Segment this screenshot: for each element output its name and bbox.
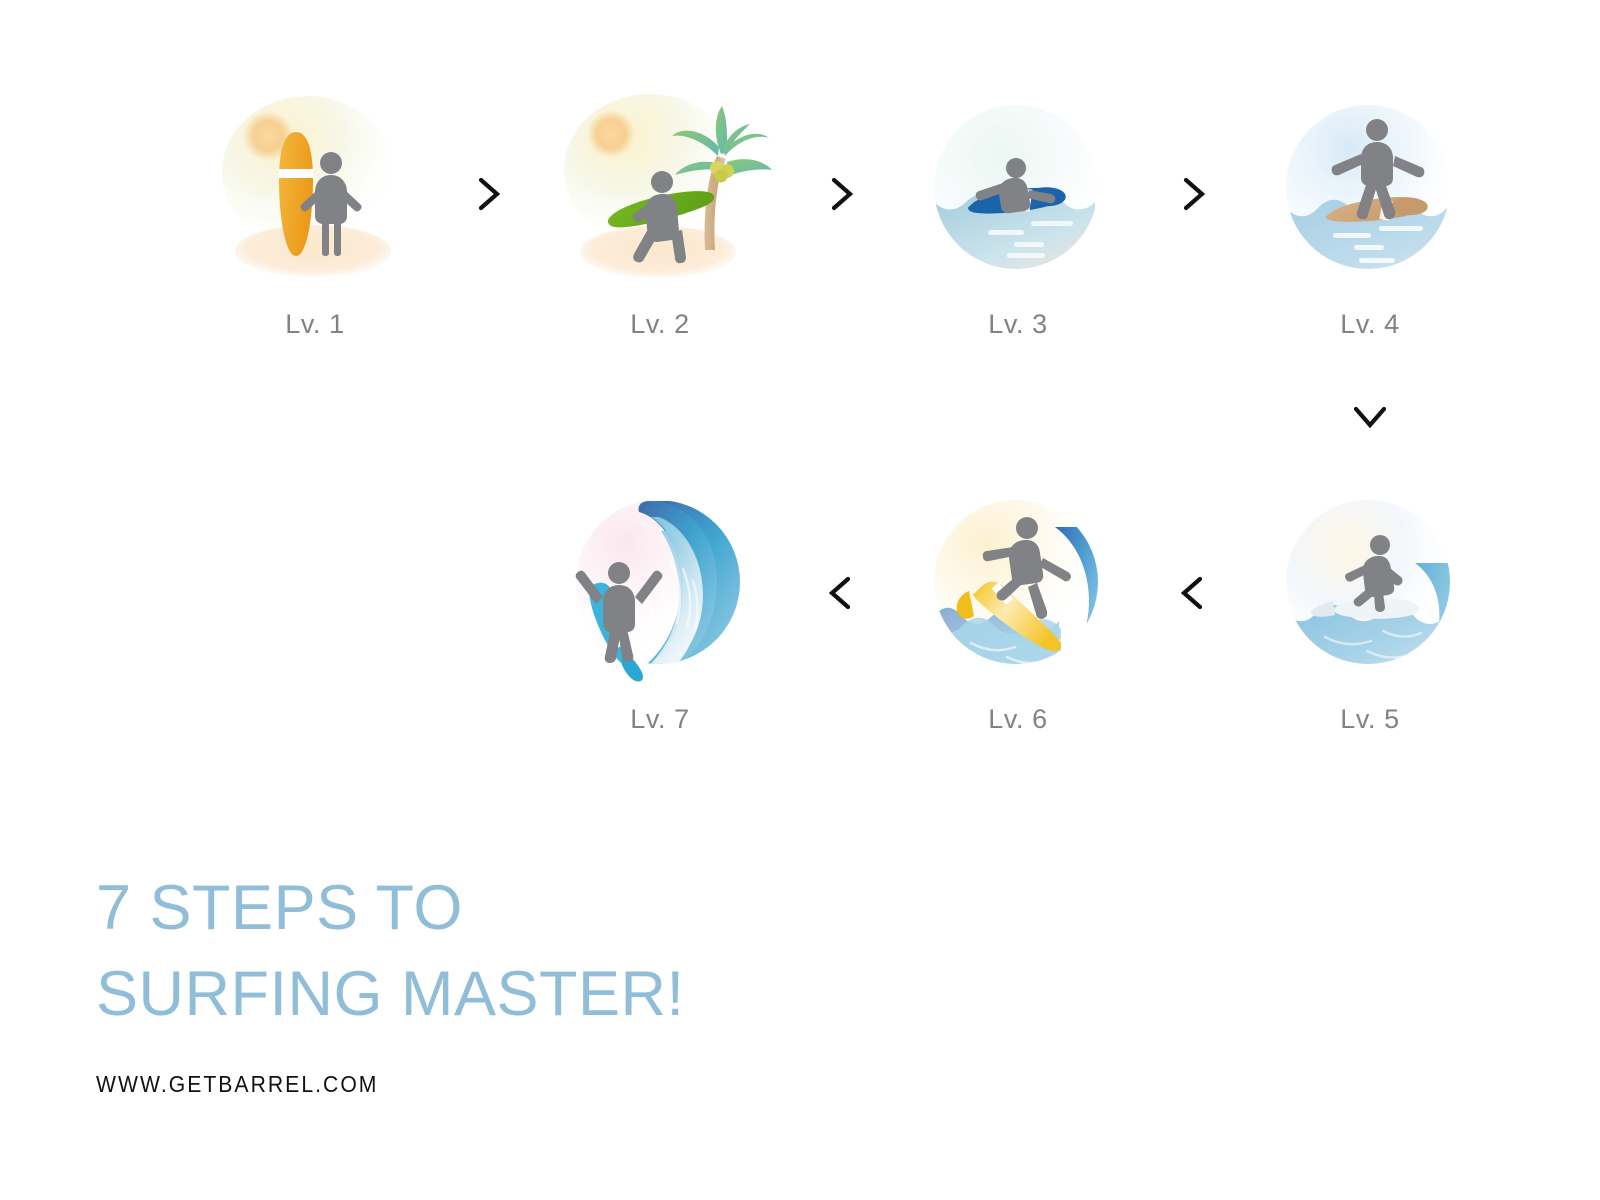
website-url: WWW.GETBARREL.COM [96,1071,924,1098]
page-title: 7 STEPS TO SURFING MASTER! [96,866,996,1037]
step-lv6[interactable]: Lv. 6 [903,485,1133,735]
step-label-lv1: Lv. 1 [200,309,430,340]
chevron-left-icon [818,570,864,616]
connector-chevron-right-3 [1170,171,1216,217]
illustration-lv3 [903,90,1133,295]
infographic-canvas: Lv. 1 [0,0,1600,1200]
chevron-down-icon [1347,393,1393,439]
step-lv1[interactable]: Lv. 1 [200,90,430,340]
illustration-lv2 [545,90,775,295]
step-lv5[interactable]: Lv. 5 [1255,485,1485,735]
step-label-lv2: Lv. 2 [545,309,775,340]
step-lv7[interactable]: Lv. 7 [545,485,775,735]
step-lv4[interactable]: Lv. 4 [1255,90,1485,340]
connector-chevron-right-2 [818,171,864,217]
chevron-left-icon [1170,570,1216,616]
connector-chevron-left-2 [818,570,864,616]
chevron-right-icon [818,171,864,217]
step-label-lv7: Lv. 7 [545,704,775,735]
illustration-lv1 [200,90,430,295]
connector-chevron-down [1347,393,1393,439]
illustration-lv7 [545,485,775,690]
step-lv3[interactable]: Lv. 3 [903,90,1133,340]
connector-chevron-right-1 [465,171,511,217]
chevron-right-icon [1170,171,1216,217]
step-label-lv3: Lv. 3 [903,309,1133,340]
chevron-right-icon [465,171,511,217]
step-lv2[interactable]: Lv. 2 [545,90,775,340]
illustration-lv5 [1255,485,1485,690]
step-label-lv5: Lv. 5 [1255,704,1485,735]
step-label-lv4: Lv. 4 [1255,309,1485,340]
footer-block: 7 STEPS TO SURFING MASTER! WWW.GETBARREL… [96,866,996,1098]
illustration-lv6 [903,485,1133,690]
connector-chevron-left-1 [1170,570,1216,616]
step-label-lv6: Lv. 6 [903,704,1133,735]
illustration-lv4 [1255,90,1485,295]
